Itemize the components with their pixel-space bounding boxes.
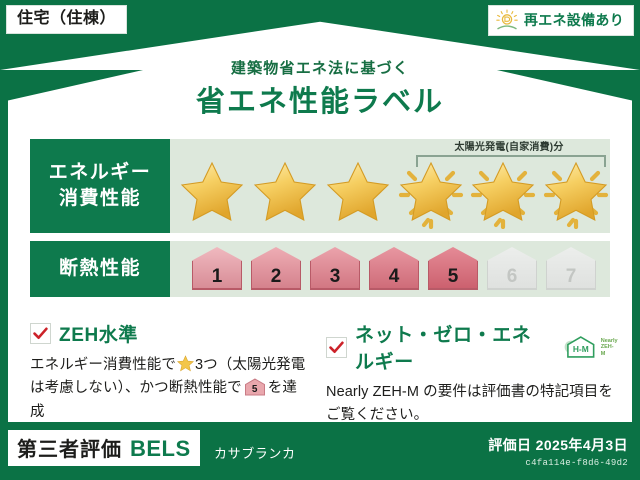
zeh-standard-title: ZEH水準 <box>59 320 138 347</box>
zeh-desc-part1: エネルギー消費性能で <box>30 357 176 373</box>
insulation-level-active: 1 <box>189 246 245 292</box>
net-zero-energy-block: ネット・ゼロ・エネルギー H-M Nearly ZEH-M Nearly ZEH… <box>326 320 618 428</box>
evaluation-id: c4fa114e-f8d6-49d2 <box>488 458 628 468</box>
insulation-level-inactive: 6 <box>484 246 540 292</box>
zeh-standard-checkbox[interactable] <box>30 323 51 344</box>
star-rating <box>170 157 610 229</box>
star-base <box>322 157 392 229</box>
net-zero-energy-title: ネット・ゼロ・エネルギー <box>355 320 548 374</box>
insulation-header-label: 断熱性能 <box>59 256 141 282</box>
evaluation-date: 評価日 2025年4月3日 <box>488 435 628 455</box>
insulation-level-number: 7 <box>543 267 599 286</box>
bels-en-label: BELS <box>130 436 191 462</box>
net-zero-energy-description: Nearly ZEH-M の要件は評価書の特記項目をご覧ください。 <box>326 381 618 428</box>
insulation-level-number: 3 <box>307 267 363 286</box>
net-zero-energy-heading: ネット・ゼロ・エネルギー H-M Nearly ZEH-M <box>326 320 618 374</box>
zeh-standard-block: ZEH水準 エネルギー消費性能で 3つ（太陽光発電 は考慮しない）、かつ断熱性能… <box>30 320 310 424</box>
zeh-m-caption-line1: Nearly <box>601 338 618 344</box>
renewable-equipment-tag: 再エネ設備あり <box>488 5 634 36</box>
inline-star-icon <box>177 355 194 372</box>
zeh-standard-heading: ZEH水準 <box>30 320 310 347</box>
insulation-performance-row: 断熱性能 1234567 <box>30 241 610 297</box>
net-zero-energy-checkbox[interactable] <box>326 337 347 358</box>
energy-performance-header: エネルギー 消費性能 <box>30 139 170 233</box>
inline-house-badge-number: 5 <box>244 385 266 395</box>
insulation-level-active: 5 <box>425 246 481 292</box>
insulation-level-active: 3 <box>307 246 363 292</box>
bels-jp-label: 第三者評価 <box>17 433 122 462</box>
insulation-level-number: 5 <box>425 267 481 286</box>
svg-text:H-M: H-M <box>573 344 589 354</box>
builder-name: カサブランカ <box>214 443 296 462</box>
insulation-performance-body: 1234567 <box>170 241 610 297</box>
zeh-m-caption-line2: ZEH-M <box>601 344 614 356</box>
star-base <box>176 157 246 229</box>
insulation-level-number: 4 <box>366 267 422 286</box>
insulation-level-number: 2 <box>248 267 304 286</box>
star-solar <box>540 157 610 229</box>
star-solar <box>467 157 537 229</box>
energy-header-line2: 消費性能 <box>59 186 141 212</box>
energy-performance-body: 太陽光発電(自家消費)分 <box>170 139 610 233</box>
zeh-desc-star-count: 3つ（太陽光発電 <box>195 357 305 373</box>
energy-performance-row: エネルギー 消費性能 太陽光発電(自家消費)分 <box>30 139 610 233</box>
star-solar <box>395 157 465 229</box>
label-subtitle: 建築物省エネ法に基づく <box>0 57 640 78</box>
insulation-level-number: 6 <box>484 267 540 286</box>
bels-certification-badge: 第三者評価 BELS <box>8 430 200 466</box>
insulation-level-active: 2 <box>248 246 304 292</box>
zeh-desc-part2: は考慮しない）、かつ断熱性能で <box>30 380 242 396</box>
energy-performance-label: 住宅（住棟） 再エネ設備あり 建築物省エネ法に基づく 省エネ性能 <box>0 0 640 480</box>
star-base <box>249 157 319 229</box>
zeh-standard-description: エネルギー消費性能で 3つ（太陽光発電 は考慮しない）、かつ断熱性能で 5 を達… <box>30 354 310 424</box>
dwelling-type-tag: 住宅（住棟） <box>6 5 127 34</box>
label-title: 省エネ性能ラベル <box>0 78 640 120</box>
renewable-equipment-label: 再エネ設備あり <box>524 10 624 30</box>
inline-house-badge: 5 <box>244 378 266 396</box>
label-footer: 第三者評価 BELS カサブランカ 評価日 2025年4月3日 c4fa114e… <box>0 422 640 480</box>
insulation-level-number: 1 <box>189 267 245 286</box>
zeh-m-logo: H-M Nearly ZEH-M <box>559 334 618 360</box>
solar-sun-icon <box>495 9 519 31</box>
energy-header-line1: エネルギー <box>49 160 152 186</box>
solar-portion-caption: 太陽光発電(自家消費)分 <box>406 138 612 153</box>
insulation-level-inactive: 7 <box>543 246 599 292</box>
insulation-level-active: 4 <box>366 246 422 292</box>
zeh-m-logo-caption: Nearly ZEH-M <box>601 338 618 360</box>
insulation-level-scale: 1234567 <box>170 241 610 297</box>
insulation-performance-header: 断熱性能 <box>30 241 170 297</box>
evaluation-meta: 評価日 2025年4月3日 c4fa114e-f8d6-49d2 <box>488 435 628 468</box>
